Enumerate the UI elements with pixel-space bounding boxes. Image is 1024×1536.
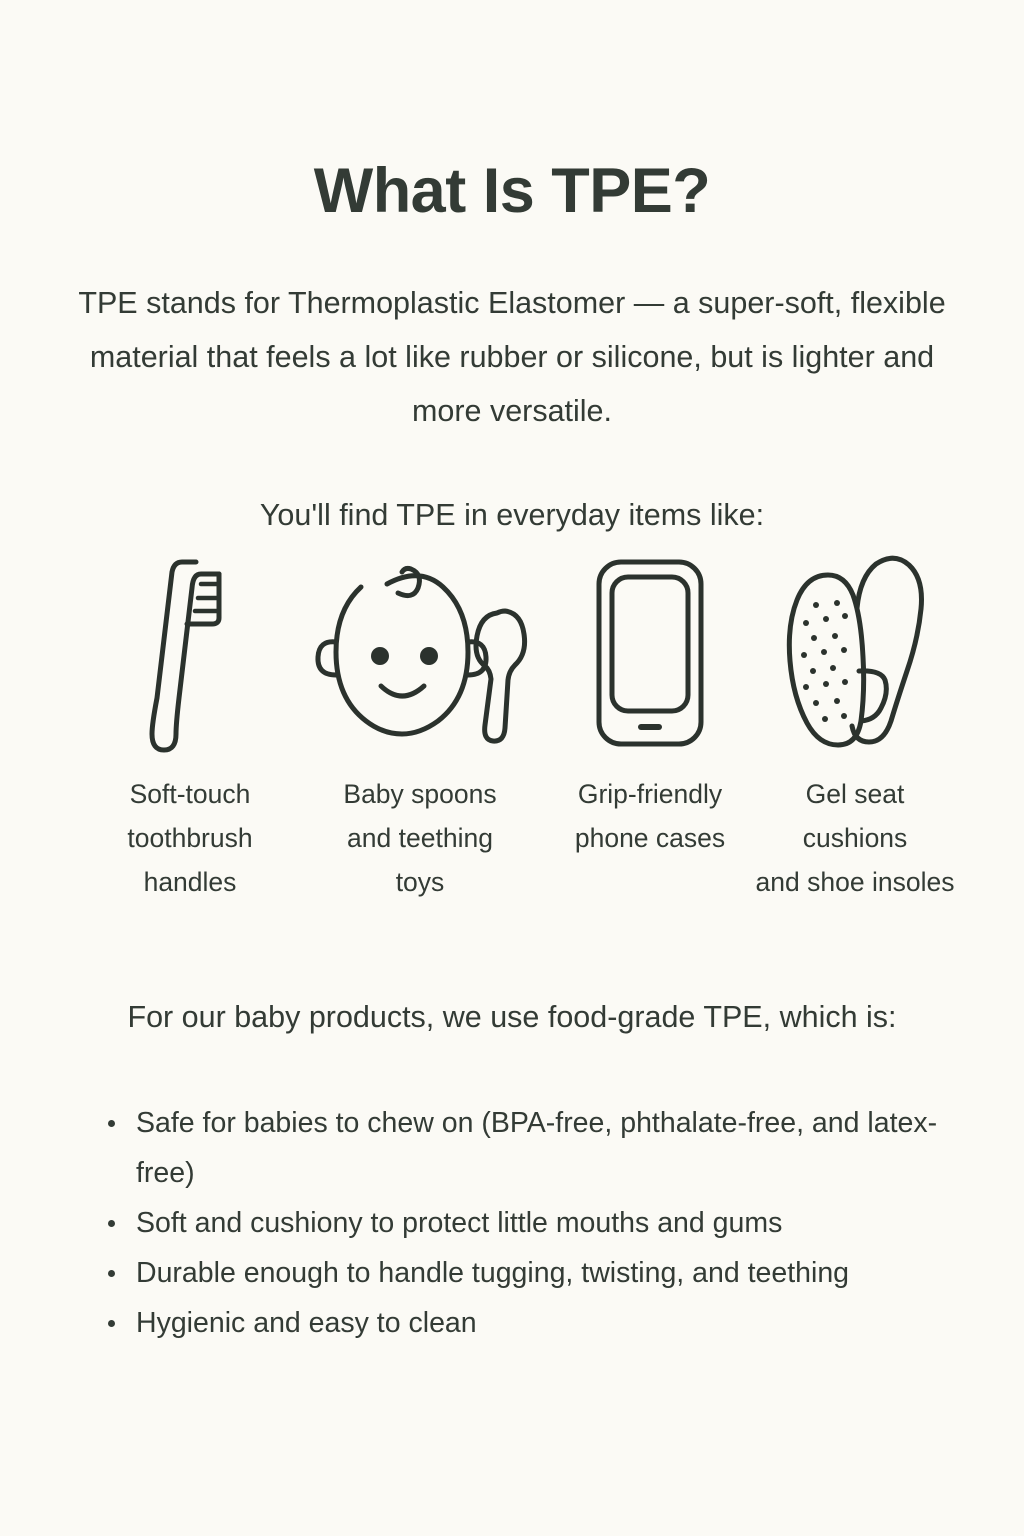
caption-toothbrush: Soft-touch toothbrush handles: [78, 772, 302, 904]
bullet-dot-icon: [108, 1220, 115, 1227]
icon-cell-phone-case: [560, 548, 740, 758]
caption-line: cushions: [760, 816, 950, 860]
icon-captions: Soft-touch toothbrush handles Baby spoon…: [0, 772, 1024, 902]
caption-line: toothbrush: [78, 816, 302, 860]
caption-line: handles: [78, 860, 302, 904]
food-grade-heading: For our baby products, we use food-grade…: [92, 989, 932, 1045]
list-item: Durable enough to handle tugging, twisti…: [100, 1248, 980, 1298]
caption-line: phone cases: [540, 816, 760, 860]
list-item: Safe for babies to chew on (BPA-free, ph…: [100, 1098, 980, 1198]
caption-baby-spoon: Baby spoons and teething toys: [300, 772, 540, 904]
phone-case-icon: [591, 555, 709, 751]
caption-line: Baby spoons: [300, 772, 540, 816]
icon-row: [0, 548, 1024, 758]
page-title: What Is TPE?: [0, 158, 1024, 224]
caption-shoe-insoles: Gel seat cushions and shoe insoles: [760, 772, 950, 860]
caption-line: and shoe insoles: [733, 860, 977, 904]
caption-line: Soft-touch: [78, 772, 302, 816]
icon-cell-baby-spoon: [300, 548, 540, 758]
list-item-text: Durable enough to handle tugging, twisti…: [136, 1257, 849, 1289]
caption-line: toys: [300, 860, 540, 904]
benefits-list: Safe for babies to chew on (BPA-free, ph…: [100, 1098, 980, 1348]
bullet-dot-icon: [108, 1270, 115, 1277]
shoe-insoles-icon: [781, 553, 929, 753]
infographic-page: What Is TPE? TPE stands for Thermoplasti…: [0, 0, 1024, 1536]
caption-phone-case: Grip-friendly phone cases: [540, 772, 760, 860]
list-item-text: Soft and cushiony to protect little mout…: [136, 1207, 782, 1239]
bullet-dot-icon: [108, 1120, 115, 1127]
list-item: Hygienic and easy to clean: [100, 1298, 980, 1348]
caption-line: Gel seat: [760, 772, 950, 816]
caption-line: and teething: [300, 816, 540, 860]
list-item-text: Safe for babies to chew on (BPA-free, ph…: [136, 1107, 937, 1189]
icon-cell-shoe-insoles: [760, 548, 950, 758]
bullet-dot-icon: [108, 1320, 115, 1327]
icon-cell-toothbrush: [96, 548, 284, 758]
baby-face-and-spoon-icon: [305, 553, 535, 753]
toothbrush-icon: [135, 548, 245, 758]
list-item: Soft and cushiony to protect little mout…: [100, 1198, 980, 1248]
intro-paragraph: TPE stands for Thermoplastic Elastomer —…: [72, 276, 952, 438]
list-item-text: Hygienic and easy to clean: [136, 1307, 477, 1339]
caption-line: Grip-friendly: [540, 772, 760, 816]
everyday-items-subheading: You'll find TPE in everyday items like:: [0, 494, 1024, 536]
